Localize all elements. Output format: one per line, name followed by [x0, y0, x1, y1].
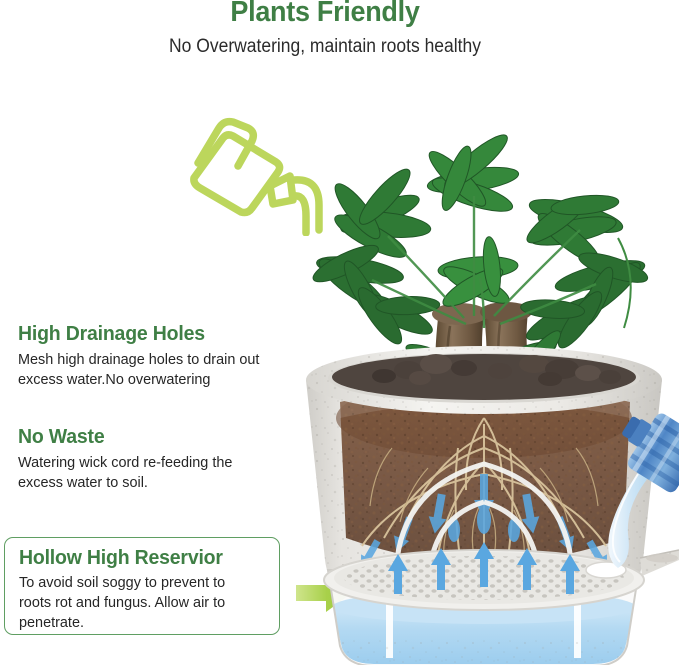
- self-watering-planter-illustration: [288, 118, 679, 665]
- feature-body: To avoid soil soggy to prevent to roots …: [19, 573, 257, 633]
- feature-title: Hollow High Reservior: [19, 546, 257, 570]
- feature-title: High Drainage Holes: [18, 322, 267, 346]
- feature-body: Watering wick cord re-feeding the excess…: [18, 453, 267, 493]
- feature-body: Mesh high drainage holes to drain out ex…: [18, 350, 267, 390]
- money-tree-plant: [309, 128, 651, 378]
- infographic-canvas: Plants Friendly No Overwatering, maintai…: [0, 0, 679, 665]
- feature-hollow-high-reservior: Hollow High Reservior To avoid soil sogg…: [4, 537, 280, 635]
- water-reservoir: [324, 542, 644, 665]
- feature-title: No Waste: [18, 425, 267, 449]
- page-subtitle: No Overwatering, maintain roots healthy: [26, 36, 624, 58]
- feature-high-drainage-holes: High Drainage Holes Mesh high drainage h…: [18, 322, 280, 390]
- feature-no-waste: No Waste Watering wick cord re-feeding t…: [18, 425, 280, 493]
- side-fill-spout: [640, 550, 679, 576]
- page-title: Plants Friendly: [23, 0, 628, 29]
